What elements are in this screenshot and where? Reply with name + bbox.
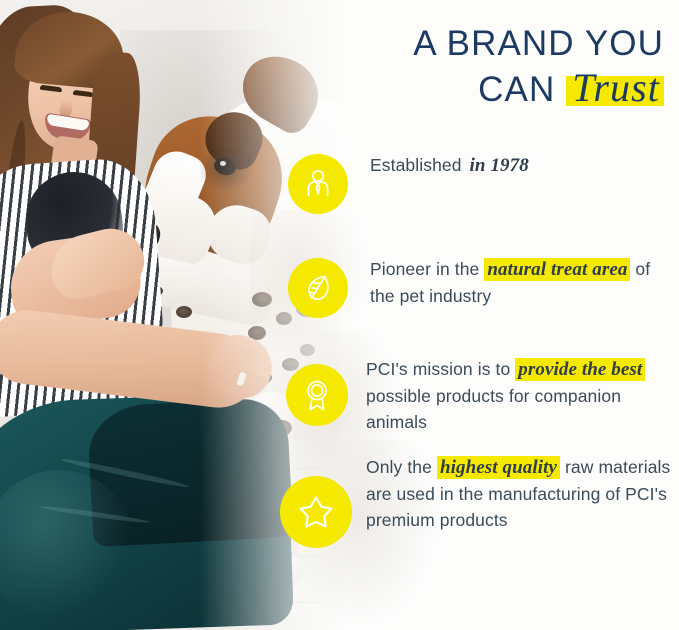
page-title: A BRAND YOU CAN Trust [298, 22, 670, 112]
feature-3-part-2: possible products for companion animals [366, 386, 621, 432]
business-person-icon [288, 154, 348, 214]
feature-1-part-0: Established [370, 155, 467, 175]
star-icon [280, 476, 352, 548]
feature-4-part-0: Only the [366, 457, 437, 477]
feature-text-established: Established in 1978 [370, 150, 679, 179]
feature-text-quality: Only the highest quality raw materials a… [366, 452, 679, 533]
feature-1-part-1: in 1978 [467, 154, 532, 177]
feature-text-pioneer: Pioneer in the natural treat area of the… [370, 254, 679, 309]
feature-2-part-1: natural treat area [484, 258, 630, 281]
headline-highlight-trust: Trust [566, 65, 664, 110]
headline-line-2: CAN Trust [298, 66, 670, 112]
feature-item-established: Established in 1978 [280, 150, 679, 236]
brand-trust-infographic: A BRAND YOU CAN Trust Established in 197… [0, 0, 679, 630]
feature-3-part-1: provide the best [515, 358, 645, 381]
feature-3-part-0: PCI's mission is to [366, 359, 515, 379]
feature-item-mission: PCI's mission is to provide the best pos… [280, 354, 679, 440]
headline-line-1: A BRAND YOU [298, 22, 670, 66]
leaf-icon [288, 258, 348, 318]
dog-spot [176, 306, 192, 318]
content-panel: A BRAND YOU CAN Trust Established in 197… [280, 0, 679, 630]
feature-item-pioneer: Pioneer in the natural treat area of the… [280, 254, 679, 340]
feature-2-part-0: Pioneer in the [370, 259, 484, 279]
headline-line-2-prefix: CAN [478, 70, 566, 109]
award-ribbon-icon [286, 364, 348, 426]
feature-4-part-1: highest quality [437, 456, 560, 479]
feature-list: Established in 1978 Pioneer in the natur… [280, 150, 679, 558]
feature-item-quality: Only the highest quality raw materials a… [280, 452, 679, 548]
feature-text-mission: PCI's mission is to provide the best pos… [366, 354, 679, 435]
